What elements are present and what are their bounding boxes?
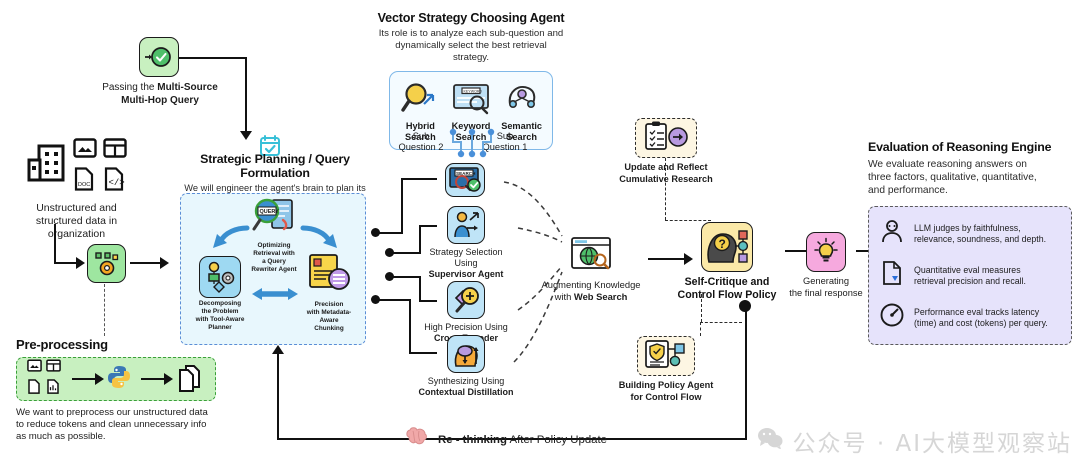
elbow1-h2 xyxy=(401,178,437,180)
evaluation-subtitle: We evaluate reasoning answers on three f… xyxy=(868,158,1072,197)
preprocessing-group: Pre-processing xyxy=(16,337,216,443)
vector-agent-subtitle: Its role is to analyze each sub-question… xyxy=(376,28,566,64)
connector-preprocessing-dashed xyxy=(104,284,105,336)
connector-update-dashed-h xyxy=(665,220,711,221)
planning-panel: QUERY Optimizing Retrieval with a Query … xyxy=(180,193,366,345)
sub-q2-l1: Sub xyxy=(392,131,450,142)
strategy-step-supervisor[interactable]: Strategy Selection Using Supervisor Agen… xyxy=(420,206,512,280)
connector-sources-to-gear-h xyxy=(54,262,78,264)
sub-q2-l2: Question 2 xyxy=(392,142,450,153)
distillation-l1: Synthesizing Using xyxy=(411,376,521,387)
connector-gear-to-planning xyxy=(130,262,162,264)
distillation-bold: Contextual Distillation xyxy=(411,387,521,398)
elbow4-h xyxy=(379,299,411,301)
supervisor-person-icon xyxy=(450,209,482,241)
documents-icon xyxy=(175,362,205,397)
planning-double-arrow xyxy=(251,284,299,304)
update-reflect-l2: Cumulative Research xyxy=(608,174,724,186)
planning-arrow-left xyxy=(211,224,251,254)
table-icon xyxy=(46,359,63,377)
wechat-icon xyxy=(757,427,783,455)
svg-text:</>: </> xyxy=(108,178,124,188)
chunk-l2: with Metadata- xyxy=(297,309,361,317)
planning-title-text: Strategic Planning / Query Formulation xyxy=(165,152,385,180)
eval-item0-l2: relevance, soundness, and depth. xyxy=(914,234,1046,245)
shield-policy-icon xyxy=(642,338,690,375)
query-entry-tile xyxy=(139,37,179,77)
critique-feedback-dot xyxy=(739,300,751,312)
web-search-bold: Web Search xyxy=(574,291,628,302)
chunk-l1: Precision xyxy=(297,301,361,309)
data-sources-caption-l2: structured data in xyxy=(14,215,139,228)
preprocessing-caption-l2: to reduce tokens and clean unnecessary i… xyxy=(16,419,216,431)
graph-nodes-icon xyxy=(502,103,542,120)
evaluation-group: Evaluation of Reasoning Engine We evalua… xyxy=(868,140,1072,345)
web-search-l1: Augmenting Knowledge xyxy=(538,279,644,291)
data-sources-group: DOC </> Unstructured and structured data… xyxy=(14,138,139,241)
code-file-icon: </> xyxy=(103,167,129,196)
lightbulb-icon xyxy=(811,237,841,267)
query-entry-prefix: Passing the xyxy=(102,82,157,93)
supervisor-bold: Supervisor Agent xyxy=(420,269,512,280)
evaluation-item-performance[interactable]: Performance eval tracks latency (time) a… xyxy=(879,302,1061,333)
policy-agent-node[interactable]: Building Policy Agent for Control Flow xyxy=(608,336,724,403)
document-chunks-icon xyxy=(304,283,354,300)
clipboard-arrow-icon xyxy=(640,120,692,157)
sub-question-connectors xyxy=(445,128,499,162)
eval-item0-l1: LLM judges by faithfulness, xyxy=(914,223,1046,234)
svg-text:?: ? xyxy=(719,237,726,251)
connector-query-entry-v xyxy=(245,57,247,133)
eval-item2-l2: (time) and cost (tokens) per query. xyxy=(914,318,1048,329)
final-response-l2: the final response xyxy=(786,288,866,300)
query-entry-bold1: Multi-Source xyxy=(157,82,218,93)
planning-node-chunking[interactable]: Precision with Metadata- Aware Chunking xyxy=(297,252,361,333)
keyword-window-icon: KEYWORD xyxy=(450,103,492,120)
connector-query-entry-arrow xyxy=(240,131,252,140)
supervisor-l1: Strategy Selection Using xyxy=(420,247,512,269)
rethinking-bold: Re - thinking xyxy=(438,434,507,446)
svg-text:DOC: DOC xyxy=(78,182,90,188)
connector-sources-to-gear-v xyxy=(54,224,56,264)
query-magnifier-doc-icon: QUERY xyxy=(248,223,300,240)
web-search-l2: with Web Search xyxy=(538,291,644,303)
connector-feedback-v xyxy=(277,352,279,440)
elbow2-h xyxy=(393,252,421,254)
rethinking-rest: After Policy Update xyxy=(507,434,607,446)
query-entry-bold2: Multi-Hop Query xyxy=(100,95,220,108)
self-critique-l1: Self-Critique and xyxy=(672,276,782,289)
chart-file-icon xyxy=(46,379,63,399)
image-file-icon xyxy=(27,359,44,377)
evaluation-subtitle-l3: and performance. xyxy=(868,184,1072,197)
vector-agent-title: Vector Strategy Choosing Agent xyxy=(376,11,566,25)
connector-update-dashed xyxy=(665,158,666,220)
eval-item1-l1: Quantitative eval measures xyxy=(914,265,1026,276)
preprocessing-caption-l3: as much as possible. xyxy=(16,431,216,443)
connector-policy-dashed-v xyxy=(700,322,701,336)
flow-gear-icon xyxy=(189,256,251,298)
document-gem-icon xyxy=(879,260,905,291)
watermark-text: 公众号 · AI大模型观察站 xyxy=(793,424,1072,458)
watermark: 公众号 · AI大模型观察站 xyxy=(757,424,1072,458)
ingestion-gear-tile xyxy=(87,244,126,283)
svg-text:QUERY: QUERY xyxy=(260,209,280,215)
building-icon xyxy=(25,138,67,187)
data-sources-caption-l1: Unstructured and xyxy=(14,202,139,215)
web-search-node[interactable]: Augmenting Knowledge with Web Search xyxy=(538,236,644,302)
elbow3-h xyxy=(393,276,421,278)
elbow1-h xyxy=(379,232,403,234)
rethinking-label: Re - thinking After Policy Update xyxy=(404,427,607,452)
image-file-icon xyxy=(73,138,99,163)
policy-agent-l1: Building Policy Agent xyxy=(608,380,724,392)
self-critique-l2: Control Flow Policy xyxy=(672,289,782,302)
vector-agent-subtitle-l2: dynamically select the best retrieval st… xyxy=(376,40,566,64)
final-response-l1: Generating xyxy=(786,276,866,288)
search-screen-check-icon: SEARCH xyxy=(447,165,483,195)
vector-agent-subtitle-l1: Its role is to analyze each sub-question… xyxy=(376,28,566,40)
query-entry-caption-l1: Passing the Multi-Source xyxy=(100,82,220,95)
doc-file-icon: DOC xyxy=(73,167,99,196)
svg-text:SEARCH: SEARCH xyxy=(456,171,476,176)
evaluation-item-llm-judge[interactable]: LLM judges by faithfulness, relevance, s… xyxy=(879,218,1061,249)
svg-text:KEYWORD: KEYWORD xyxy=(464,89,483,93)
doc-file-icon xyxy=(27,379,44,399)
evaluation-subtitle-l2: three factors, qualitative, quantitative… xyxy=(868,171,1072,184)
sub-question-2-label: Sub Question 2 xyxy=(392,131,450,153)
data-sources-caption: Unstructured and structured data in orga… xyxy=(14,202,139,241)
data-sources-caption-l3: organization xyxy=(14,228,139,241)
dec-l3: with Tool-Aware xyxy=(189,316,251,324)
strategy-step-search[interactable]: SEARCH xyxy=(437,163,493,197)
python-icon xyxy=(106,364,132,395)
preprocessing-caption: We want to preprocess our unstructured d… xyxy=(16,407,216,443)
cross-encoder-l1: High Precision Using xyxy=(420,322,512,333)
preprocessing-panel xyxy=(16,357,216,401)
speedometer-icon xyxy=(879,302,905,333)
preprocessing-file-icons xyxy=(27,359,63,399)
planning-arrow-right xyxy=(299,224,339,254)
judge-person-icon xyxy=(879,218,905,249)
evaluation-subtitle-l1: We evaluate reasoning answers on xyxy=(868,158,1072,171)
connector-query-entry-h xyxy=(179,57,247,59)
browser-globe-search-icon xyxy=(569,259,613,276)
final-response-node[interactable]: Generating the final response xyxy=(786,232,866,299)
planning-node-decomposing[interactable]: Decomposing the Problem with Tool-Aware … xyxy=(189,256,251,332)
connector-critique-down xyxy=(745,305,747,439)
dec-l1: Decomposing xyxy=(189,300,251,308)
preprocessing-caption-l1: We want to preprocess our unstructured d… xyxy=(16,407,216,419)
self-critique-node[interactable]: ? Self-Critique and Control Flow Policy xyxy=(672,222,782,302)
chunk-l4: Chunking xyxy=(297,325,361,333)
elbow1-v xyxy=(401,178,403,233)
evaluation-panel: LLM judges by faithfulness, relevance, s… xyxy=(868,206,1072,345)
policy-agent-l2: for Control Flow xyxy=(608,392,724,404)
question-head-flow-icon: ? xyxy=(705,226,749,268)
eval-item1-l2: retrieval precision and recall. xyxy=(914,276,1026,287)
evaluation-item-quantitative[interactable]: Quantitative eval measures retrieval pre… xyxy=(879,260,1061,291)
update-reflect-node[interactable]: Update and Reflect Cumulative Research xyxy=(608,118,724,185)
evaluation-title: Evaluation of Reasoning Engine xyxy=(868,140,1072,154)
cross-encoder-magnifier-icon xyxy=(450,284,482,316)
diagram-canvas: DOC </> Unstructured and structured data… xyxy=(0,0,1080,464)
brain-icon xyxy=(404,427,430,452)
dec-l2: the Problem xyxy=(189,308,251,316)
connector-feedback-arrow xyxy=(272,345,284,354)
update-reflect-l1: Update and Reflect xyxy=(608,162,724,174)
dec-l4: Planner xyxy=(189,324,251,332)
connector-sources-arrow xyxy=(76,257,85,269)
web-search-prefix: with xyxy=(555,291,574,302)
eval-item2-l1: Performance eval tracks latency xyxy=(914,307,1048,318)
table-icon xyxy=(103,138,129,163)
chunk-l3: Aware xyxy=(297,317,361,325)
distillation-head-icon xyxy=(450,338,482,370)
connector-critique-dashed-down xyxy=(701,294,702,322)
query-entry-caption: Passing the Multi-Source Multi-Hop Query xyxy=(100,82,220,107)
magnifier-arrow-icon xyxy=(400,103,440,120)
connector-gear-arrow xyxy=(160,257,169,269)
connector-policy-dashed-h xyxy=(700,322,742,323)
